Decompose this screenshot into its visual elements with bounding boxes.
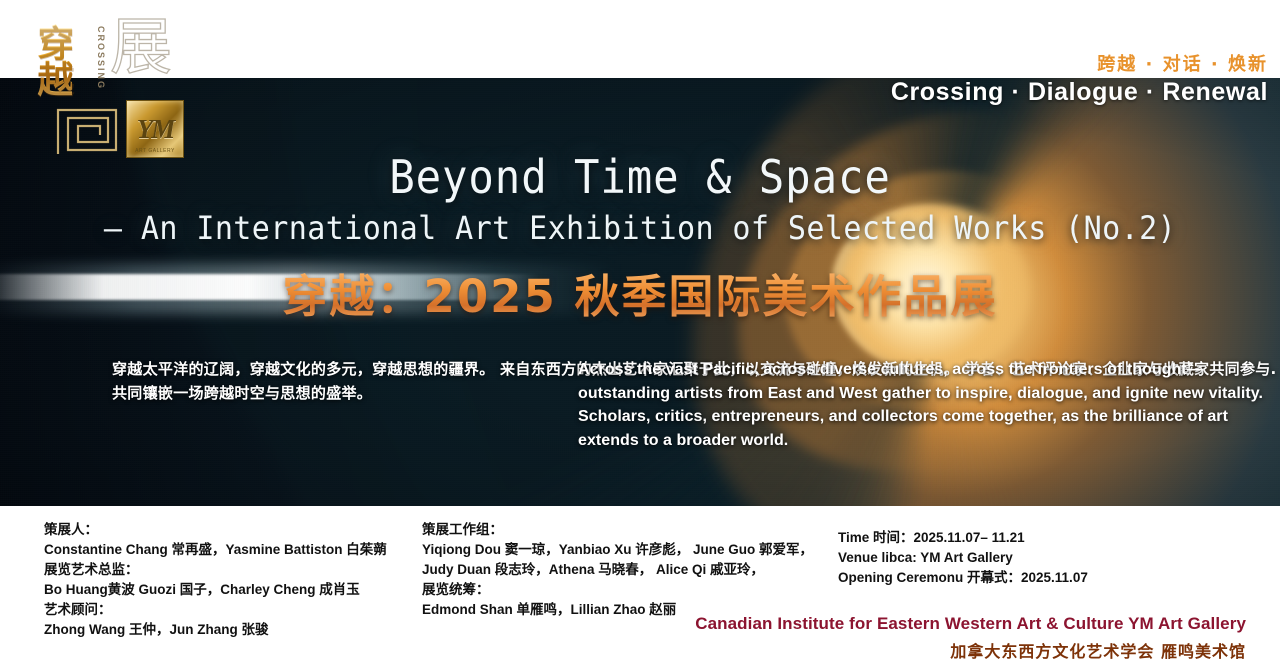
logo-latin-vertical: CROSSING: [96, 26, 106, 90]
logo-exhibition-char: 展: [110, 16, 172, 78]
tagline-chinese: 跨越 · 对话 · 焕新: [1097, 50, 1268, 76]
exhibition-poster: 穿越 CROSSING 展 YM ART GALLERY 跨越 · 对话 · 焕…: [0, 0, 1280, 669]
tagline-english: Crossing · Dialogue · Renewal: [891, 78, 1268, 107]
vortex-hot-core: [840, 205, 1030, 375]
spiral-square-icon: [54, 102, 120, 158]
body-text-english: Across the vast Pacific, across diverse …: [578, 358, 1280, 452]
ym-badge-letters: YM: [137, 114, 174, 145]
ym-badge-subtitle: ART GALLERY: [127, 148, 183, 154]
credits-column-team: 策展工作组： Yiqiong Dou 窦一琼，Yanbiao Xu 许彦彪， J…: [422, 520, 813, 620]
ym-gallery-badge: YM ART GALLERY: [126, 100, 184, 158]
footer-organizers-chinese: 加拿大东西方文化艺术学会 雁鸣美术馆: [0, 638, 1280, 662]
logo-chinese-mark: 穿越: [32, 24, 72, 108]
crossing-logo: 穿越 CROSSING 展 YM ART GALLERY: [26, 8, 196, 160]
credits-column-event-info: Time 时间：2025.11.07– 11.21 Venue libca: Y…: [838, 528, 1088, 588]
footer-organizers-english: Canadian Institute for Eastern Western A…: [0, 614, 1280, 634]
